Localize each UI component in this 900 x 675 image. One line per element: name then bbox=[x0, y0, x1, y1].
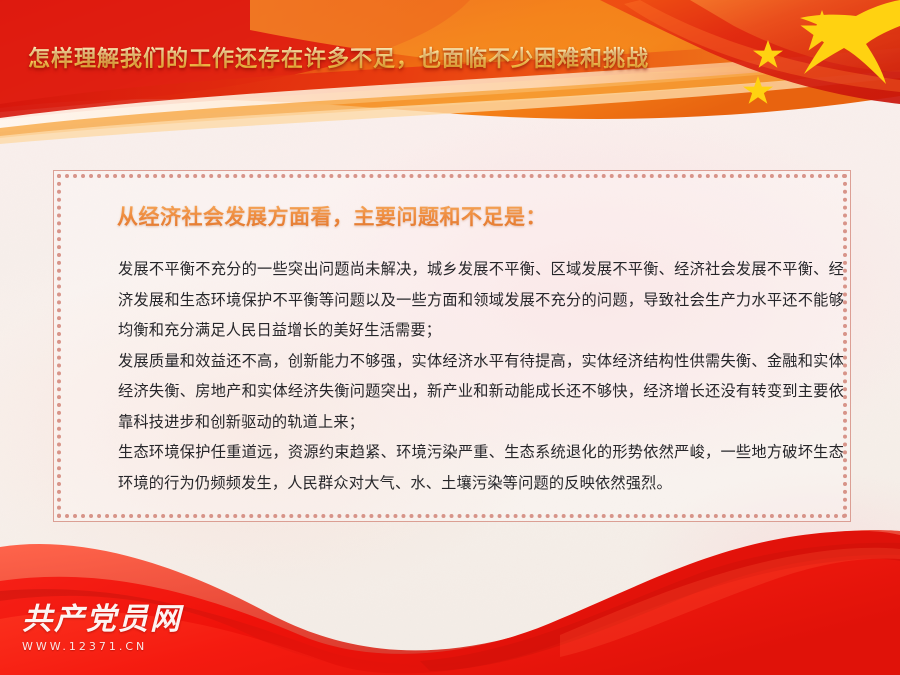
content-card-inner: 从经济社会发展方面看，主要问题和不足是： 发展不平衡不充分的一些突出问题尚未解决… bbox=[57, 174, 847, 518]
paragraph-3: 生态环境保护任重道远，资源约束趋紧、环境污染严重、生态系统退化的形势依然严峻，一… bbox=[118, 437, 844, 498]
site-logo: 共产党员网 WWW.12371.CN bbox=[22, 603, 192, 653]
logo-text: 共产党员网 bbox=[22, 603, 192, 637]
content-card: 从经济社会发展方面看，主要问题和不足是： 发展不平衡不充分的一些突出问题尚未解决… bbox=[53, 170, 851, 522]
header-banner: 怎样理解我们的工作还存在许多不足，也面临不少困难和挑战 bbox=[0, 0, 900, 148]
paragraph-1: 发展不平衡不充分的一些突出问题尚未解决，城乡发展不平衡、区域发展不平衡、经济社会… bbox=[118, 254, 844, 346]
slide-canvas: 怎样理解我们的工作还存在许多不足，也面临不少困难和挑战 从经济社会发展方面看，主… bbox=[0, 0, 900, 675]
paragraph-2: 发展质量和效益还不高，创新能力不够强，实体经济水平有待提高，实体经济结构性供需失… bbox=[118, 346, 844, 438]
body-text: 发展不平衡不充分的一些突出问题尚未解决，城乡发展不平衡、区域发展不平衡、经济社会… bbox=[118, 254, 844, 498]
logo-url: WWW.12371.CN bbox=[22, 640, 192, 653]
section-heading: 从经济社会发展方面看，主要问题和不足是： bbox=[117, 202, 815, 232]
page-title: 怎样理解我们的工作还存在许多不足，也面临不少困难和挑战 bbox=[28, 45, 649, 75]
